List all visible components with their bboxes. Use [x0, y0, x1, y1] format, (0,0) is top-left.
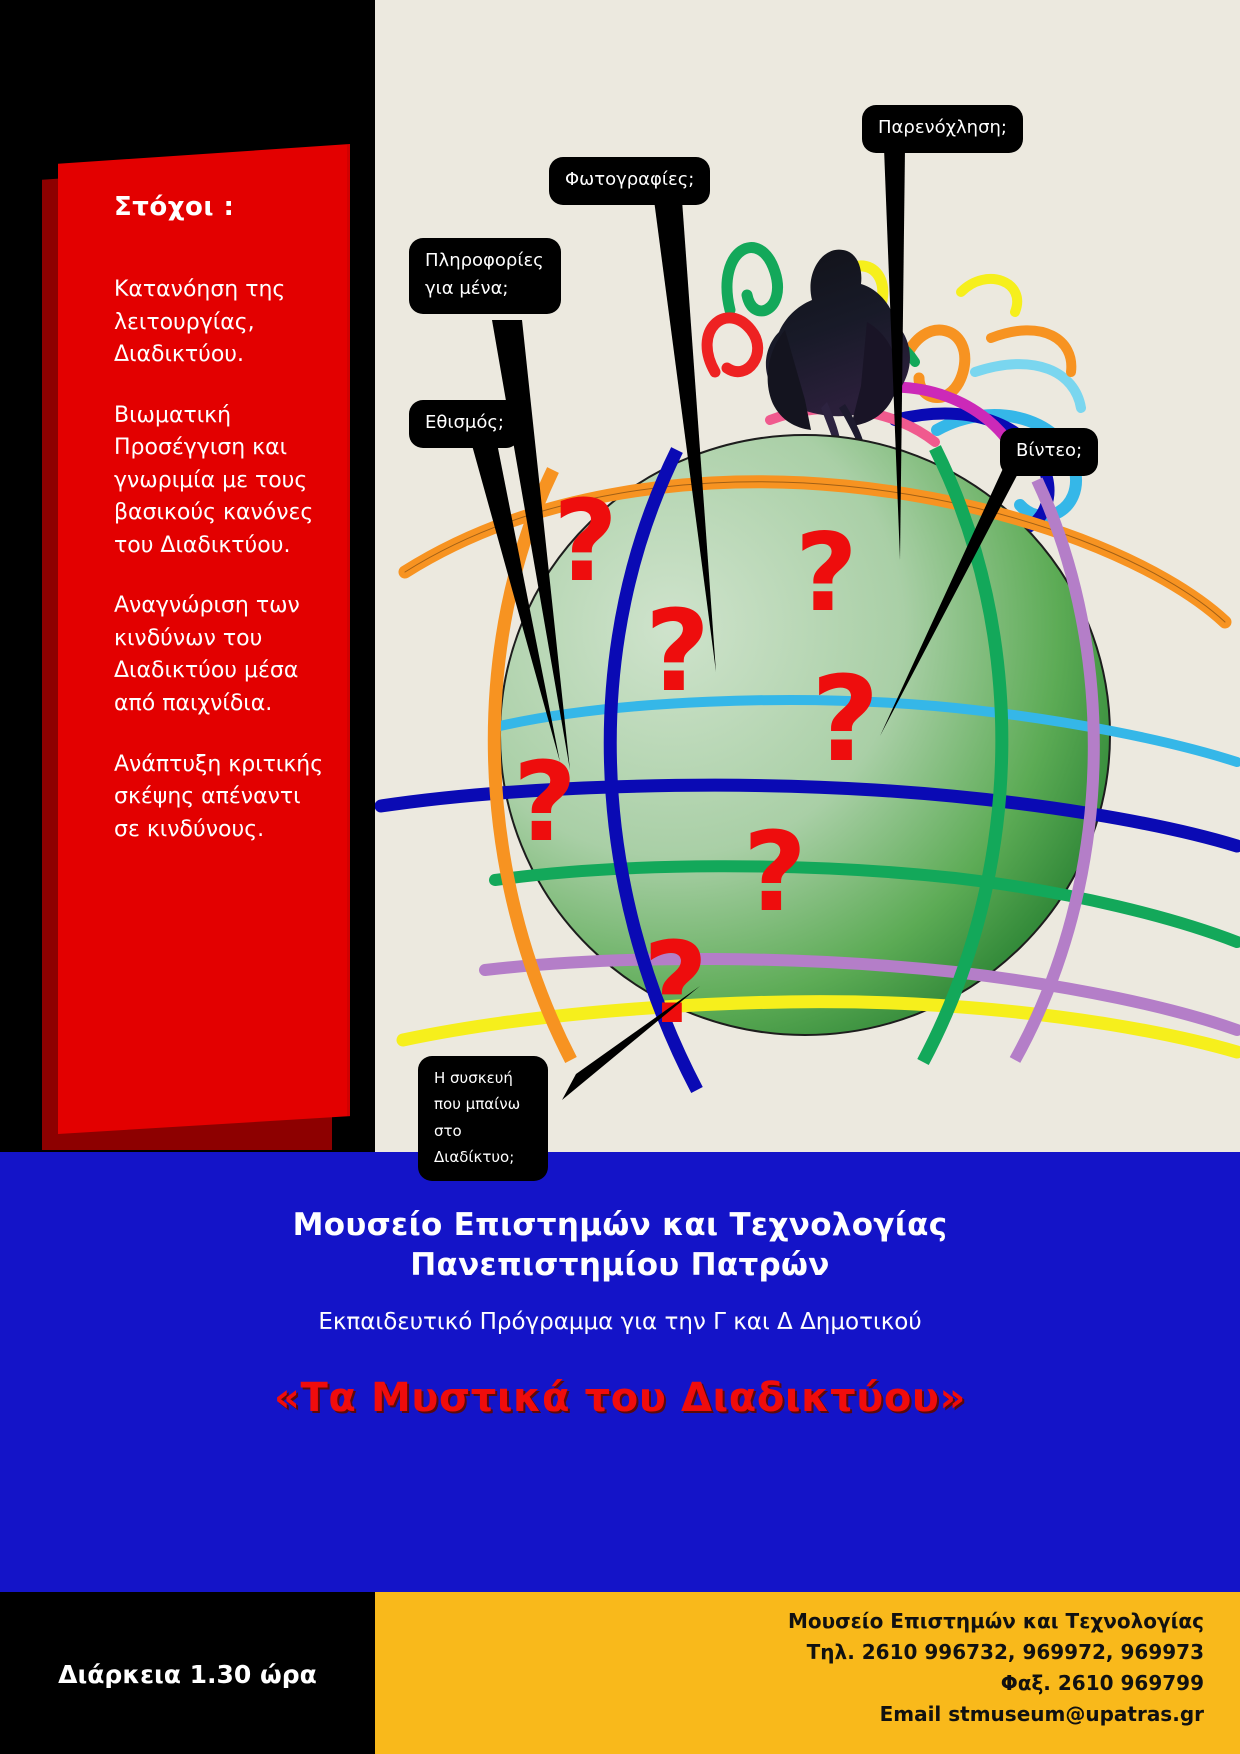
contact-line-2: Τηλ. 2610 996732, 969972, 969973	[375, 1637, 1240, 1668]
tail-photos	[654, 200, 716, 672]
tail-video	[880, 462, 1024, 736]
organization-name: Μουσείο Επιστημών και Τεχνολογίας Πανεπι…	[0, 1152, 1240, 1285]
poster-main-title: «Τα Μυστικά του Διαδικτύου»	[0, 1375, 1240, 1421]
contact-line-3: Φαξ. 2610 969799	[375, 1668, 1240, 1699]
bubble-photos[interactable]: Φωτογραφίες;	[549, 157, 710, 205]
contact-email[interactable]: Email stmuseum@upatras.gr	[375, 1699, 1240, 1730]
tail-harassment	[884, 148, 905, 560]
program-subtitle: Εκπαιδευτικό Πρόγραμμα για την Γ και Δ Δ…	[0, 1309, 1240, 1335]
bubble-video[interactable]: Βίντεο;	[1000, 428, 1098, 476]
organization-line-2: Πανεπιστημίου Πατρών	[0, 1246, 1240, 1286]
bubble-harassment[interactable]: Παρενόχληση;	[862, 105, 1023, 153]
organization-line-1: Μουσείο Επιστημών και Τεχνολογίας	[0, 1206, 1240, 1246]
contact-box: Μουσείο Επιστημών και Τεχνολογίας Τηλ. 2…	[375, 1592, 1240, 1754]
blue-footer-band: Μουσείο Επιστημών και Τεχνολογίας Πανεπι…	[0, 1152, 1240, 1592]
bubble-addiction[interactable]: Εθισμός;	[409, 400, 520, 448]
contact-line-1: Μουσείο Επιστημών και Τεχνολογίας	[375, 1592, 1240, 1637]
duration-label: Διάρκεια 1.30 ώρα	[0, 1660, 375, 1689]
bubble-info-about-me[interactable]: Πληροφορίες για μένα;	[409, 238, 561, 314]
tail-device	[562, 986, 700, 1100]
poster-root: Στόχοι : Κατανόηση της λειτουργίας, Διαδ…	[0, 0, 1240, 1754]
bubble-device[interactable]: Η συσκευή που μπαίνω στο Διαδίκτυο;	[418, 1056, 548, 1181]
